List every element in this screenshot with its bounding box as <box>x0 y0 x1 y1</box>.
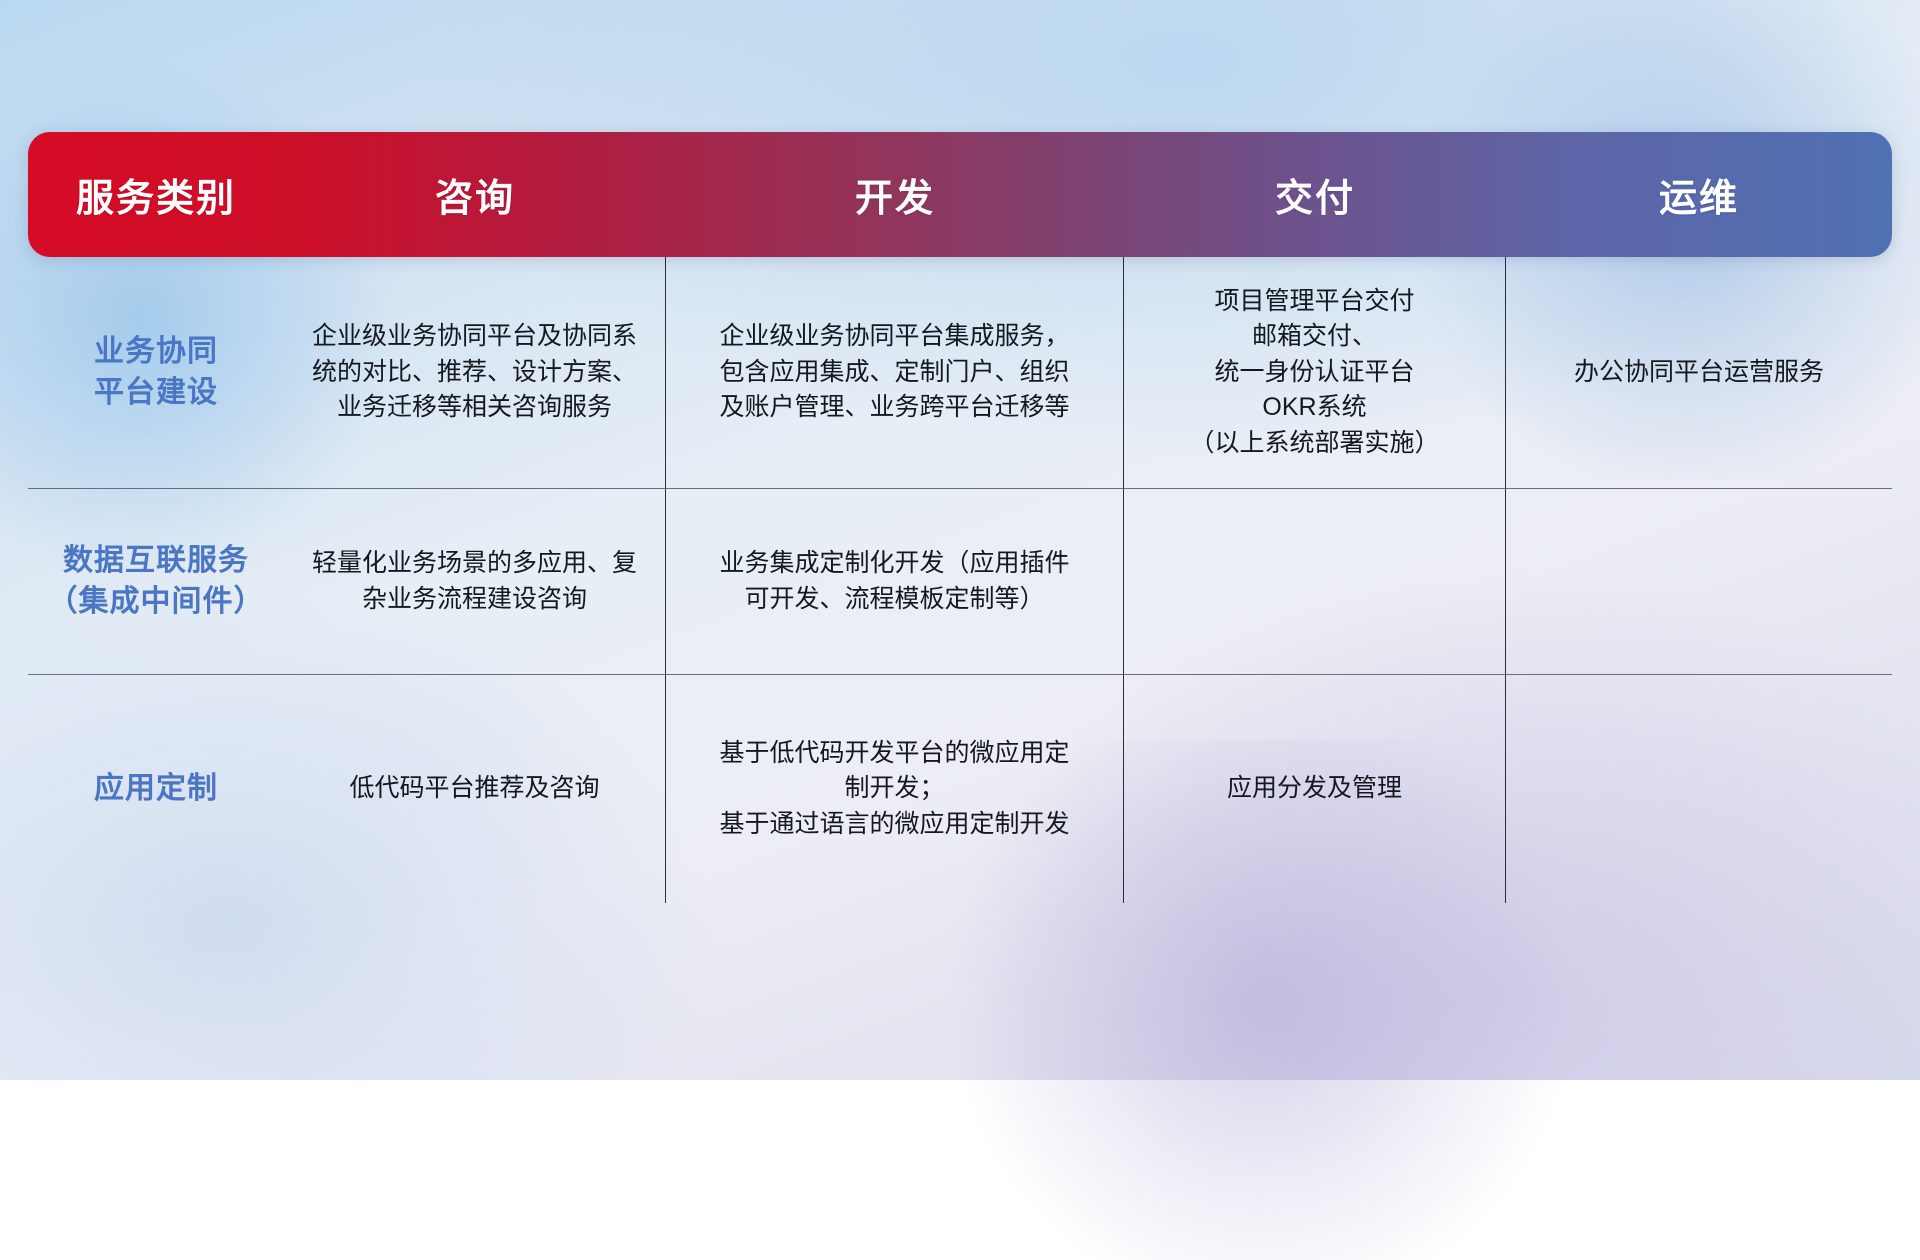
header-label: 交付 <box>1275 167 1355 222</box>
cell-operations: 办公协同平台运营服务 <box>1506 257 1892 489</box>
table-header-service-category: 服务类别 <box>28 132 284 257</box>
cell-category: 数据互联服务 （集成中间件） <box>28 489 284 675</box>
header-label: 开发 <box>855 167 935 222</box>
table-header-delivery: 交付 <box>1124 132 1506 257</box>
cell-development: 企业级业务协同平台集成服务， 包含应用集成、定制门户、组织 及账户管理、业务跨平… <box>666 257 1124 489</box>
category-label: 应用定制 <box>94 769 218 810</box>
category-label: 数据互联服务 （集成中间件） <box>48 541 265 622</box>
cell-delivery <box>1124 489 1506 675</box>
cell-category: 应用定制 <box>28 675 284 903</box>
cell-consulting: 低代码平台推荐及咨询 <box>284 675 666 903</box>
cell-development: 业务集成定制化开发（应用插件 可开发、流程模板定制等） <box>666 489 1124 675</box>
table-header-consulting: 咨询 <box>284 132 666 257</box>
table-row: 应用定制 低代码平台推荐及咨询 基于低代码开发平台的微应用定 制开发； 基于通过… <box>28 675 1892 903</box>
cell-development: 基于低代码开发平台的微应用定 制开发； 基于通过语言的微应用定制开发 <box>666 675 1124 903</box>
cell-text: 基于低代码开发平台的微应用定 制开发； 基于通过语言的微应用定制开发 <box>719 736 1069 843</box>
cell-text: 轻量化业务场景的多应用、复 杂业务流程建设咨询 <box>312 546 637 617</box>
table-header-operations: 运维 <box>1506 132 1892 257</box>
cell-text: 办公协同平台运营服务 <box>1574 355 1824 391</box>
table-header-row: 服务类别 咨询 开发 交付 运维 <box>28 132 1892 257</box>
category-label: 业务协同 平台建设 <box>94 332 218 413</box>
cell-text: 项目管理平台交付 邮箱交付、 统一身份认证平台 OKR系统 （以上系统部署实施） <box>1189 284 1439 462</box>
cell-category: 业务协同 平台建设 <box>28 257 284 489</box>
table-header-development: 开发 <box>666 132 1124 257</box>
table-row: 数据互联服务 （集成中间件） 轻量化业务场景的多应用、复 杂业务流程建设咨询 业… <box>28 489 1892 675</box>
cell-text: 业务集成定制化开发（应用插件 可开发、流程模板定制等） <box>719 546 1069 617</box>
header-label: 咨询 <box>435 167 515 222</box>
cell-delivery: 项目管理平台交付 邮箱交付、 统一身份认证平台 OKR系统 （以上系统部署实施） <box>1124 257 1506 489</box>
table-body: 业务协同 平台建设 企业级业务协同平台及协同系 统的对比、推荐、设计方案、 业务… <box>28 257 1892 903</box>
cell-text: 企业级业务协同平台及协同系 统的对比、推荐、设计方案、 业务迁移等相关咨询服务 <box>312 319 637 426</box>
cell-delivery: 应用分发及管理 <box>1124 675 1506 903</box>
cell-operations <box>1506 675 1892 903</box>
table-row: 业务协同 平台建设 企业级业务协同平台及协同系 统的对比、推荐、设计方案、 业务… <box>28 257 1892 489</box>
cell-consulting: 企业级业务协同平台及协同系 统的对比、推荐、设计方案、 业务迁移等相关咨询服务 <box>284 257 666 489</box>
cell-text: 应用分发及管理 <box>1227 771 1402 807</box>
cell-text: 低代码平台推荐及咨询 <box>349 771 599 807</box>
cell-text: 企业级业务协同平台集成服务， 包含应用集成、定制门户、组织 及账户管理、业务跨平… <box>719 319 1069 426</box>
header-label: 运维 <box>1659 167 1739 222</box>
service-matrix-table: 服务类别 咨询 开发 交付 运维 业务协同 平台建设 企业级业务协同平台及协同系… <box>28 132 1892 903</box>
cell-operations <box>1506 489 1892 675</box>
cell-consulting: 轻量化业务场景的多应用、复 杂业务流程建设咨询 <box>284 489 666 675</box>
header-label: 服务类别 <box>76 167 236 222</box>
